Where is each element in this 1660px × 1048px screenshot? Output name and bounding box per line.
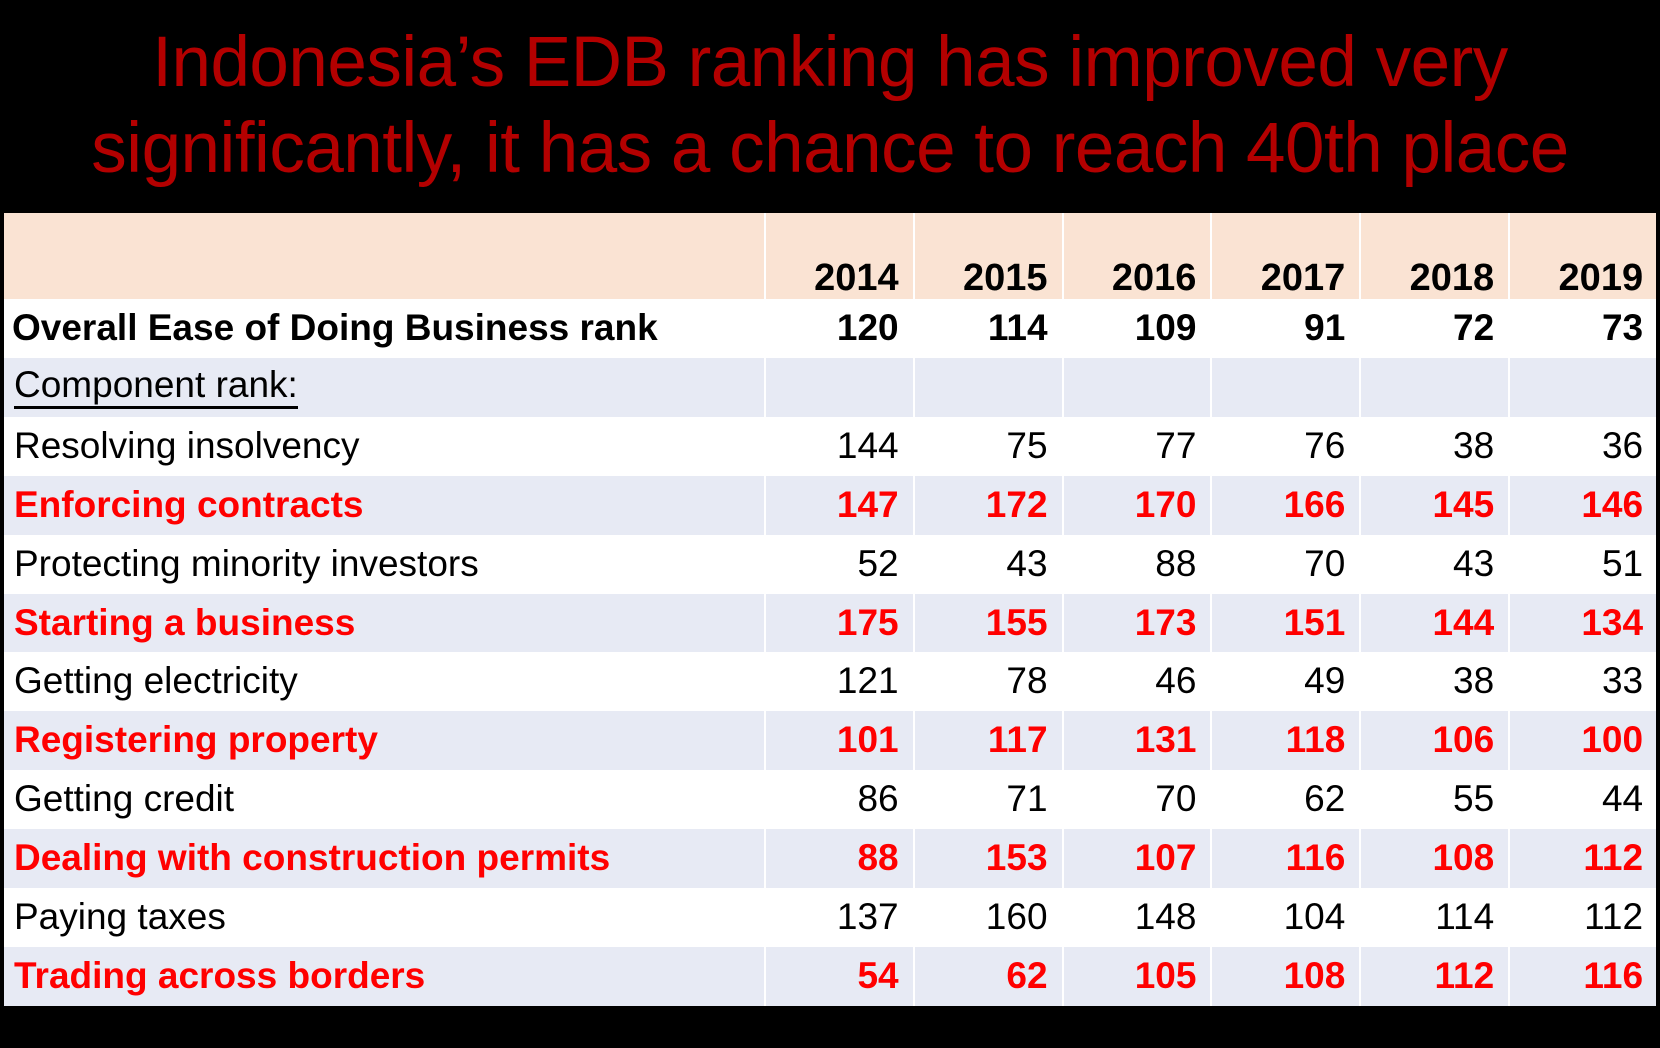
row-value: 73 bbox=[1509, 299, 1658, 358]
row-value: 101 bbox=[765, 711, 914, 770]
row-label: Paying taxes bbox=[4, 888, 765, 947]
table-body: Overall Ease of Doing Business rank12011… bbox=[4, 299, 1660, 1006]
row-label: Registering property bbox=[4, 711, 765, 770]
column-header-2016: 2016 bbox=[1063, 213, 1212, 299]
row-value: 112 bbox=[1360, 947, 1509, 1006]
table-row: Enforcing contracts147172170166145146139 bbox=[4, 476, 1660, 535]
row-value bbox=[1063, 358, 1212, 417]
row-value: 44 bbox=[1509, 770, 1658, 829]
row-value: 147 bbox=[765, 476, 914, 535]
row-value: 38 bbox=[1360, 652, 1509, 711]
table-head: 2014 2015 2016 2017 2018 2019 2020 bbox=[4, 213, 1660, 299]
row-value: 114 bbox=[1360, 888, 1509, 947]
row-value: 75 bbox=[914, 417, 1063, 476]
row-value: 105 bbox=[1063, 947, 1212, 1006]
edb-ranking-table-container: 2014 2015 2016 2017 2018 2019 2020 Overa… bbox=[0, 212, 1660, 1007]
row-value: 49 bbox=[1211, 652, 1360, 711]
row-value: 104 bbox=[1211, 888, 1360, 947]
row-value: 43 bbox=[1360, 535, 1509, 594]
slide-canvas: Indonesia’s EDB ranking has improved ver… bbox=[0, 0, 1660, 1048]
row-value: 166 bbox=[1211, 476, 1360, 535]
row-value: 76 bbox=[1211, 417, 1360, 476]
row-value: 112 bbox=[1509, 829, 1658, 888]
row-value: 107 bbox=[1063, 829, 1212, 888]
row-value: 62 bbox=[1211, 770, 1360, 829]
row-label: Trading across borders bbox=[4, 947, 765, 1006]
table-row: Trading across borders546210510811211611… bbox=[4, 947, 1660, 1006]
row-value: 120 bbox=[765, 299, 914, 358]
row-value: 155 bbox=[914, 594, 1063, 653]
row-value: 78 bbox=[914, 652, 1063, 711]
row-value: 100 bbox=[1509, 711, 1658, 770]
row-value: 170 bbox=[1063, 476, 1212, 535]
row-label: Protecting minority investors bbox=[4, 535, 765, 594]
slide-title-line-2: significantly, it has a chance to reach … bbox=[91, 106, 1568, 192]
slide-title-line-1: Indonesia’s EDB ranking has improved ver… bbox=[152, 20, 1508, 106]
table-row: Protecting minority investors52438870435… bbox=[4, 535, 1660, 594]
row-value: 112 bbox=[1509, 888, 1658, 947]
row-value: 173 bbox=[1063, 594, 1212, 653]
row-value: 88 bbox=[1063, 535, 1212, 594]
row-label: Overall Ease of Doing Business rank bbox=[4, 299, 765, 358]
table-corner-cell bbox=[4, 213, 765, 299]
row-value: 91 bbox=[1211, 299, 1360, 358]
row-label: Dealing with construction permits bbox=[4, 829, 765, 888]
row-value: 88 bbox=[765, 829, 914, 888]
row-label: Starting a business bbox=[4, 594, 765, 653]
table-row: Paying taxes13716014810411411281 bbox=[4, 888, 1660, 947]
row-value: 46 bbox=[1063, 652, 1212, 711]
table-row: Getting credit86717062554448 bbox=[4, 770, 1660, 829]
row-value: 33 bbox=[1509, 652, 1658, 711]
row-value bbox=[914, 358, 1063, 417]
table-row: Starting a business175155173151144134140 bbox=[4, 594, 1660, 653]
column-header-2018: 2018 bbox=[1360, 213, 1509, 299]
row-value: 131 bbox=[1063, 711, 1212, 770]
row-label: Getting electricity bbox=[4, 652, 765, 711]
row-value: 121 bbox=[765, 652, 914, 711]
section-heading: Component rank: bbox=[14, 366, 298, 409]
row-value: 118 bbox=[1211, 711, 1360, 770]
row-value: 70 bbox=[1211, 535, 1360, 594]
row-value: 70 bbox=[1063, 770, 1212, 829]
row-value: 160 bbox=[914, 888, 1063, 947]
row-value: 145 bbox=[1360, 476, 1509, 535]
row-label: Component rank: bbox=[4, 358, 765, 417]
table-row: Registering property10111713111810610010… bbox=[4, 711, 1660, 770]
row-value: 144 bbox=[1360, 594, 1509, 653]
table-row: Resolving insolvency144757776383638 bbox=[4, 417, 1660, 476]
row-value: 52 bbox=[765, 535, 914, 594]
row-value bbox=[1211, 358, 1360, 417]
row-value: 71 bbox=[914, 770, 1063, 829]
column-header-2017: 2017 bbox=[1211, 213, 1360, 299]
row-value: 134 bbox=[1509, 594, 1658, 653]
row-value: 77 bbox=[1063, 417, 1212, 476]
row-label: Enforcing contracts bbox=[4, 476, 765, 535]
row-value: 153 bbox=[914, 829, 1063, 888]
row-value bbox=[765, 358, 914, 417]
row-value: 175 bbox=[765, 594, 914, 653]
table-row: Dealing with construction permits8815310… bbox=[4, 829, 1660, 888]
row-value: 108 bbox=[1360, 829, 1509, 888]
row-value: 43 bbox=[914, 535, 1063, 594]
table-header-row: 2014 2015 2016 2017 2018 2019 2020 bbox=[4, 213, 1660, 299]
row-value: 55 bbox=[1360, 770, 1509, 829]
row-value: 117 bbox=[914, 711, 1063, 770]
row-value: 86 bbox=[765, 770, 914, 829]
row-value bbox=[1360, 358, 1509, 417]
row-value: 146 bbox=[1509, 476, 1658, 535]
slide-title: Indonesia’s EDB ranking has improved ver… bbox=[0, 0, 1660, 212]
column-header-2015: 2015 bbox=[914, 213, 1063, 299]
row-label: Resolving insolvency bbox=[4, 417, 765, 476]
row-value: 106 bbox=[1360, 711, 1509, 770]
row-value: 51 bbox=[1509, 535, 1658, 594]
row-label: Getting credit bbox=[4, 770, 765, 829]
row-value: 72 bbox=[1360, 299, 1509, 358]
row-value: 54 bbox=[765, 947, 914, 1006]
row-value: 109 bbox=[1063, 299, 1212, 358]
row-value: 36 bbox=[1509, 417, 1658, 476]
table-row: Component rank: bbox=[4, 358, 1660, 417]
row-value: 108 bbox=[1211, 947, 1360, 1006]
row-value: 137 bbox=[765, 888, 914, 947]
row-value: 114 bbox=[914, 299, 1063, 358]
row-value: 172 bbox=[914, 476, 1063, 535]
table-row: Getting electricity121784649383333 bbox=[4, 652, 1660, 711]
row-value: 151 bbox=[1211, 594, 1360, 653]
column-header-2014: 2014 bbox=[765, 213, 914, 299]
edb-ranking-table: 2014 2015 2016 2017 2018 2019 2020 Overa… bbox=[4, 213, 1660, 1006]
row-value: 116 bbox=[1509, 947, 1658, 1006]
table-row: Overall Ease of Doing Business rank12011… bbox=[4, 299, 1660, 358]
row-value: 62 bbox=[914, 947, 1063, 1006]
row-value: 148 bbox=[1063, 888, 1212, 947]
column-header-2019: 2019 bbox=[1509, 213, 1658, 299]
row-value: 38 bbox=[1360, 417, 1509, 476]
row-value: 116 bbox=[1211, 829, 1360, 888]
row-value bbox=[1509, 358, 1658, 417]
row-value: 144 bbox=[765, 417, 914, 476]
